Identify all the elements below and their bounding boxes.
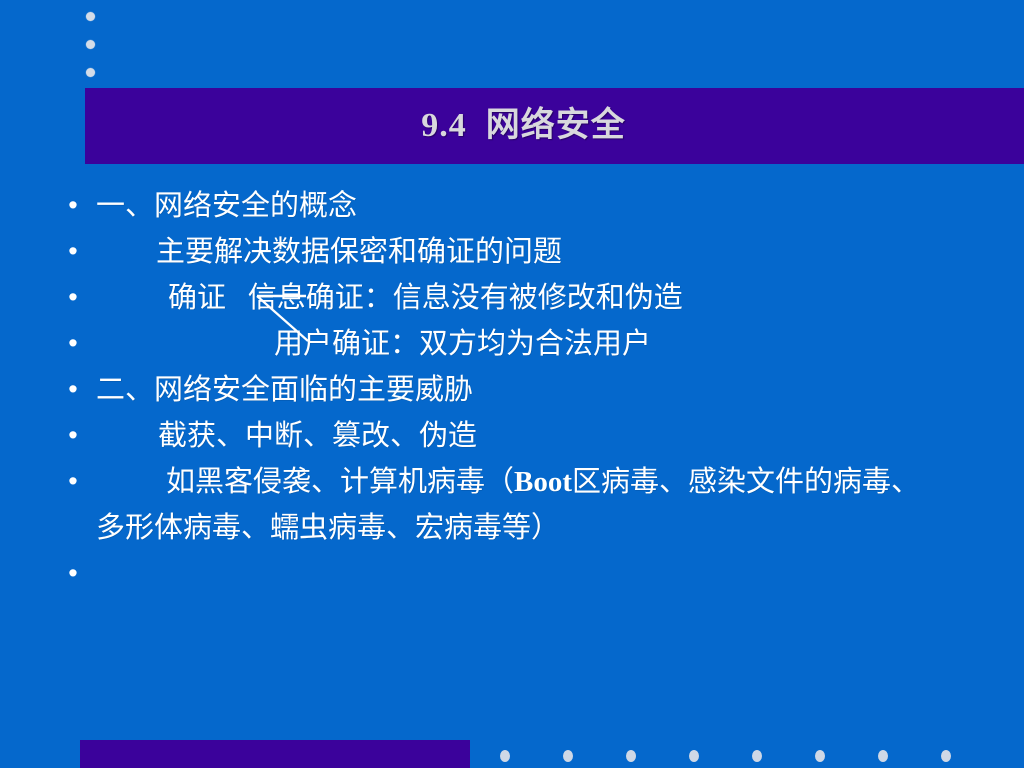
decor-dot-icon (86, 40, 95, 49)
decor-dot-icon (86, 68, 95, 77)
bullet-row: •如黑客侵袭、计算机病毒（Boot区病毒、感染文件的病毒、多形体病毒、蠕虫病毒、… (0, 459, 1024, 551)
bullet-marker-icon: • (0, 413, 96, 457)
decor-dot-icon (500, 750, 510, 762)
decor-dot-icon (941, 750, 951, 762)
decor-dot-icon (752, 750, 762, 762)
decor-dot-icon (815, 750, 825, 762)
top-decoration-dots (86, 4, 106, 84)
slide-body: •一、网络安全的概念•主要解决数据保密和确证的问题•确证 信息确证：信息没有被修… (0, 183, 1024, 597)
bullet-row: •用户确证：双方均为合法用户 (0, 321, 1024, 367)
bullet-marker-icon: • (0, 229, 96, 273)
bullet-text: 确证 信息确证：信息没有被修改和伪造 (96, 275, 1024, 321)
bullet-text: 用户确证：双方均为合法用户 (96, 321, 1024, 367)
decor-dot-icon (86, 12, 95, 21)
bottom-accent-bar (80, 740, 470, 768)
bullet-row: •主要解决数据保密和确证的问题 (0, 229, 1024, 275)
decor-dot-icon (626, 750, 636, 762)
slide-canvas: 9.4 网络安全 •一、网络安全的概念•主要解决数据保密和确证的问题•确证 信息… (0, 0, 1024, 768)
bullet-text: 截获、中断、篡改、伪造 (96, 413, 1024, 459)
bullet-row: •一、网络安全的概念 (0, 183, 1024, 229)
bullet-marker-icon: • (0, 321, 96, 365)
bullet-marker-icon: • (0, 459, 96, 503)
bullet-row: •二、网络安全面临的主要威胁 (0, 367, 1024, 413)
bullet-row: •截获、中断、篡改、伪造 (0, 413, 1024, 459)
slide-title: 9.4 网络安全 (421, 109, 688, 143)
bottom-decoration-dots (500, 750, 970, 764)
bullet-marker-icon: • (0, 183, 96, 227)
bullet-text: 一、网络安全的概念 (96, 183, 1024, 229)
bullet-marker-icon: • (0, 551, 96, 595)
decor-dot-icon (689, 750, 699, 762)
bullet-marker-icon: • (0, 275, 96, 319)
bullet-text: 二、网络安全面临的主要威胁 (96, 367, 1024, 413)
bullet-marker-icon: • (0, 367, 96, 411)
bullet-row: •确证 信息确证：信息没有被修改和伪造 (0, 275, 1024, 321)
slide-title-banner: 9.4 网络安全 (85, 88, 1024, 164)
decor-dot-icon (563, 750, 573, 762)
bullet-text: 主要解决数据保密和确证的问题 (96, 229, 1024, 275)
bullet-text: 如黑客侵袭、计算机病毒（Boot区病毒、感染文件的病毒、多形体病毒、蠕虫病毒、宏… (96, 459, 1024, 551)
decor-dot-icon (878, 750, 888, 762)
bullet-row: • (0, 551, 1024, 597)
